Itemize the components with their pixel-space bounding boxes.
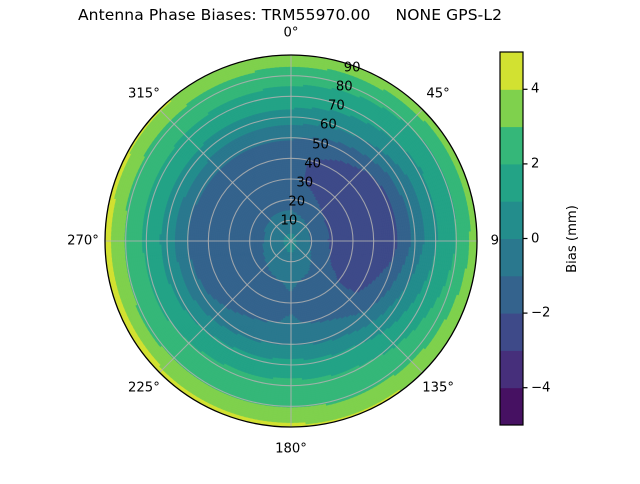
radial-tick-30: 30 xyxy=(296,175,313,190)
radial-tick-80: 80 xyxy=(336,80,353,95)
angular-tick-180: 180° xyxy=(275,442,307,457)
radial-tick-70: 70 xyxy=(328,99,345,114)
radial-tick-60: 60 xyxy=(320,118,337,133)
colorbar-axis-label: Bias (mm) xyxy=(565,205,580,273)
colorbar-tick--2: −2 xyxy=(531,306,550,321)
angular-tick-315: 315° xyxy=(128,86,160,101)
angular-tick-270: 270° xyxy=(67,234,99,249)
radial-tick-20: 20 xyxy=(288,194,305,209)
angular-tick-135: 135° xyxy=(422,381,454,396)
angular-tick-225: 225° xyxy=(128,381,160,396)
angular-tick-45: 45° xyxy=(426,86,449,101)
radial-tick-40: 40 xyxy=(304,156,321,171)
radial-tick-10: 10 xyxy=(281,213,298,228)
colorbar-tick-2: 2 xyxy=(531,156,539,171)
angular-tick-90: 90 xyxy=(491,234,508,249)
colorbar-tick-4: 4 xyxy=(531,82,539,97)
colorbar-tick-0: 0 xyxy=(531,231,539,246)
colorbar-tick--4: −4 xyxy=(531,380,550,395)
figure-canvas: Antenna Phase Biases: TRM55970.00 NONE G… xyxy=(0,0,640,480)
radial-tick-50: 50 xyxy=(312,137,329,152)
angular-tick-0: 0° xyxy=(284,26,299,41)
radial-tick-90: 90 xyxy=(344,61,361,76)
